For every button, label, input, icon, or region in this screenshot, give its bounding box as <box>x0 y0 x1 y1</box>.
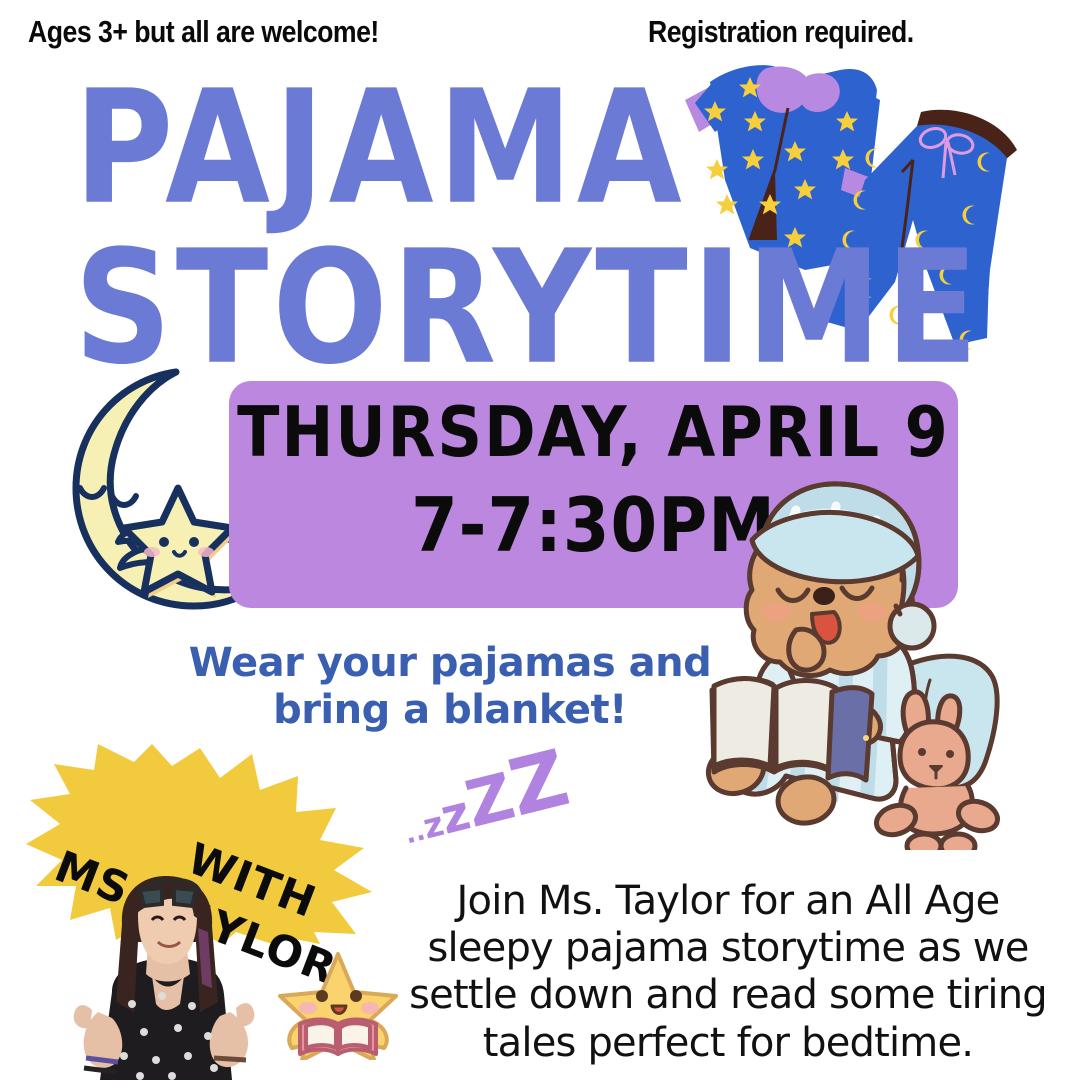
presenter-photo <box>52 872 282 1080</box>
instruction-line-1: Wear your pajamas and <box>160 640 740 687</box>
page-title: PAJAMA STORYTIME <box>74 72 774 363</box>
sleepy-dog-reading-illustration <box>700 480 1080 850</box>
title-line-2: STORYTIME <box>74 232 788 386</box>
header-ages-note: Ages 3+ but all are welcome! <box>28 14 379 50</box>
sleep-sound-text: ..zzZZ <box>390 733 577 862</box>
instruction-text: Wear your pajamas and bring a blanket! <box>160 640 740 734</box>
title-line-1: PAJAMA <box>74 72 788 226</box>
event-date: THURSDAY, APRIL 9 <box>229 392 958 472</box>
instruction-line-2: bring a blanket! <box>160 687 740 734</box>
header-registration-note: Registration required. <box>648 14 914 50</box>
event-description: Join Ms. Taylor for an All Age sleepy pa… <box>408 878 1048 1067</box>
star-reading-book-icon <box>272 948 404 1060</box>
poster: Ages 3+ but all are welcome! Registratio… <box>0 0 1080 1080</box>
